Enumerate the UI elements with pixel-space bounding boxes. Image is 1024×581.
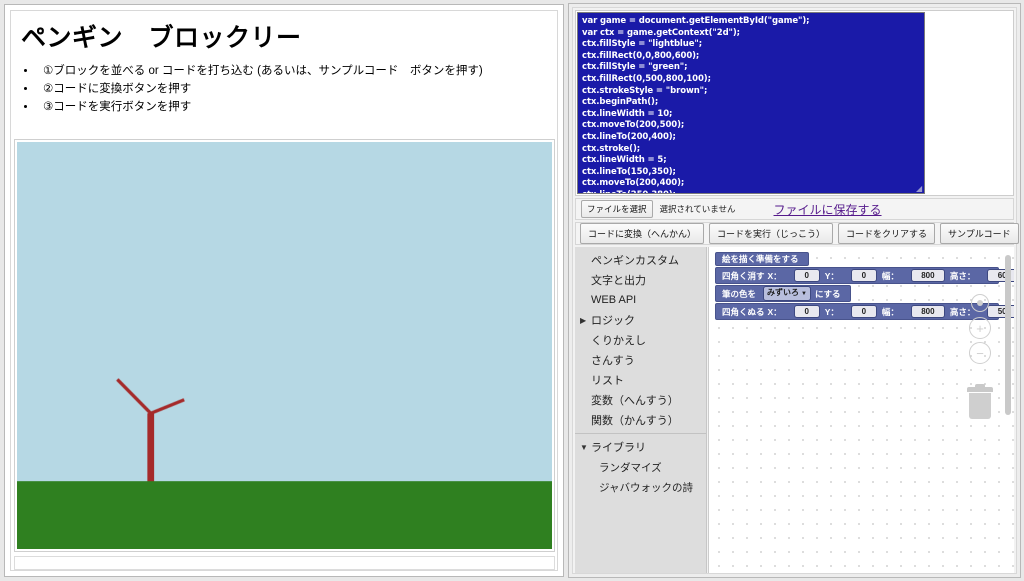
- block-width-field[interactable]: 800: [911, 269, 945, 282]
- toolbox-item-label: WEB API: [591, 294, 636, 306]
- toolbox-item-label: 関数（かんすう）: [591, 412, 679, 428]
- block-label: 四角くぬる: [722, 306, 765, 318]
- toolbox-divider: [575, 433, 706, 434]
- center-workspace-icon[interactable]: [971, 294, 989, 312]
- run-code-button[interactable]: コードを実行（じっこう）: [709, 223, 833, 244]
- block-label: 絵を描く準備をする: [722, 253, 799, 265]
- list-item: ①ブロックを並べる or コードを打ち込む (あるいは、サンプルコード ボタンを…: [37, 63, 557, 80]
- toolbox-item-label: ライブラリ: [591, 439, 646, 455]
- left-footer-bar: [14, 556, 555, 570]
- instruction-list: ①ブロックを並べる or コードを打ち込む (あるいは、サンプルコード ボタンを…: [11, 59, 557, 123]
- block-y-label: Y：: [825, 306, 839, 318]
- left-pane: ペンギン ブロックリー ①ブロックを並べる or コードを打ち込む (あるいは、…: [4, 4, 564, 577]
- list-item: ③コードを実行ボタンを押す: [37, 99, 557, 116]
- toolbox-item-label: 文字と出力: [591, 272, 646, 288]
- toolbox-item-label: ロジック: [591, 312, 635, 328]
- code-textarea[interactable]: var game = document.getElementById("game…: [577, 12, 925, 194]
- toolbox-item-web-api[interactable]: WEB API: [575, 290, 706, 310]
- blockly-area: ペンギンカスタム 文字と出力 WEB API ▶ ロジック: [575, 247, 1014, 573]
- page-title: ペンギン ブロックリー: [11, 11, 557, 59]
- right-content-frame: var game = document.getElementById("game…: [572, 7, 1017, 574]
- right-pane: var game = document.getElementById("game…: [568, 3, 1021, 578]
- action-button-row: コードに変換（へんかん） コードを実行（じっこう） コードをクリアする サンプル…: [575, 222, 1014, 245]
- block-x-field[interactable]: 0: [794, 269, 820, 282]
- convert-to-code-button[interactable]: コードに変換（へんかん）: [580, 223, 704, 244]
- app-window: ペンギン ブロックリー ①ブロックを並べる or コードを打ち込む (あるいは、…: [0, 0, 1024, 581]
- left-content-frame: ペンギン ブロックリー ①ブロックを並べる or コードを打ち込む (あるいは、…: [10, 10, 558, 571]
- block-width-label: 幅：: [882, 306, 899, 318]
- block-set-pen-color[interactable]: 筆の色を みずいろ▼ にする: [715, 285, 851, 302]
- trash-icon[interactable]: [967, 387, 993, 419]
- trash-lid: [967, 387, 993, 392]
- block-label-suffix: にする: [815, 288, 841, 300]
- block-width-label: 幅：: [882, 270, 899, 282]
- block-height-label: 高さ：: [950, 270, 976, 282]
- trash-body: [969, 393, 991, 419]
- block-label: 筆の色を: [722, 288, 756, 300]
- color-dropdown-value: みずいろ: [767, 288, 799, 297]
- toolbox-item-randomize[interactable]: ランダマイズ: [575, 457, 706, 477]
- toolbox-item-label: ランダマイズ: [599, 460, 662, 475]
- toolbox-item-label: リスト: [591, 372, 624, 388]
- blockly-workspace[interactable]: 絵を描く準備をする 四角く消す X： 0 Y： 0 幅： 8: [708, 247, 1014, 573]
- toolbox-item-logic[interactable]: ▶ ロジック: [575, 310, 706, 330]
- block-clear-rect[interactable]: 四角く消す X： 0 Y： 0 幅： 800 高さ： 600: [715, 267, 999, 284]
- toolbox-item-label: ペンギンカスタム: [591, 252, 679, 268]
- block-prepare-drawing[interactable]: 絵を描く準備をする: [715, 252, 809, 266]
- canvas-frame: [14, 139, 555, 552]
- blockly-toolbox: ペンギンカスタム 文字と出力 WEB API ▶ ロジック: [575, 247, 707, 573]
- game-canvas[interactable]: [17, 142, 552, 549]
- toolbox-item-label: くりかえし: [591, 332, 646, 348]
- toolbox-item-text-output[interactable]: 文字と出力: [575, 270, 706, 290]
- zoom-out-button[interactable]: −: [969, 342, 991, 364]
- choose-file-button[interactable]: ファイルを選択: [581, 200, 653, 218]
- code-editor-region: var game = document.getElementById("game…: [575, 10, 1014, 196]
- toolbox-item-penguin-custom[interactable]: ペンギンカスタム: [575, 250, 706, 270]
- save-to-file-link[interactable]: ファイルに保存する: [774, 201, 882, 218]
- clear-code-button[interactable]: コードをクリアする: [838, 223, 935, 244]
- block-x-label: X：: [768, 270, 782, 282]
- toolbox-item-label: ジャバウォックの詩: [599, 480, 693, 495]
- file-row: ファイルを選択 選択されていません ファイルに保存する: [575, 198, 1014, 220]
- block-label: 四角く消す: [722, 270, 765, 282]
- toolbox-item-label: さんすう: [591, 352, 635, 368]
- block-fill-rect[interactable]: 四角くぬる X： 0 Y： 0 幅： 800 高さ： 500: [715, 303, 999, 320]
- toolbox-item-jabberwocky[interactable]: ジャバウォックの詩: [575, 477, 706, 497]
- sample-code-button[interactable]: サンプルコード: [940, 223, 1019, 244]
- toolbox-item-library[interactable]: ▼ ライブラリ: [575, 437, 706, 457]
- list-item: ②コードに変換ボタンを押す: [37, 81, 557, 98]
- color-dropdown[interactable]: みずいろ▼: [763, 286, 811, 301]
- toolbox-item-variables[interactable]: 変数（へんすう）: [575, 390, 706, 410]
- toolbox-item-math[interactable]: さんすう: [575, 350, 706, 370]
- block-x-field[interactable]: 0: [794, 305, 820, 318]
- block-y-field[interactable]: 0: [851, 269, 877, 282]
- toolbox-item-lists[interactable]: リスト: [575, 370, 706, 390]
- zoom-in-button[interactable]: +: [969, 317, 991, 339]
- toolbox-item-functions[interactable]: 関数（かんすう）: [575, 410, 706, 430]
- expand-arrow-icon: ▶: [580, 315, 591, 326]
- toolbox-item-loops[interactable]: くりかえし: [575, 330, 706, 350]
- file-status-label: 選択されていません: [660, 203, 736, 215]
- toolbox-item-label: 変数（へんすう）: [591, 392, 679, 408]
- block-x-label: X：: [768, 306, 782, 318]
- chevron-down-icon: ▼: [801, 291, 807, 297]
- workspace-vertical-scrollbar[interactable]: [1005, 255, 1011, 415]
- block-y-label: Y：: [825, 270, 839, 282]
- block-y-field[interactable]: 0: [851, 305, 877, 318]
- collapse-arrow-icon: ▼: [580, 442, 591, 453]
- block-width-field[interactable]: 800: [911, 305, 945, 318]
